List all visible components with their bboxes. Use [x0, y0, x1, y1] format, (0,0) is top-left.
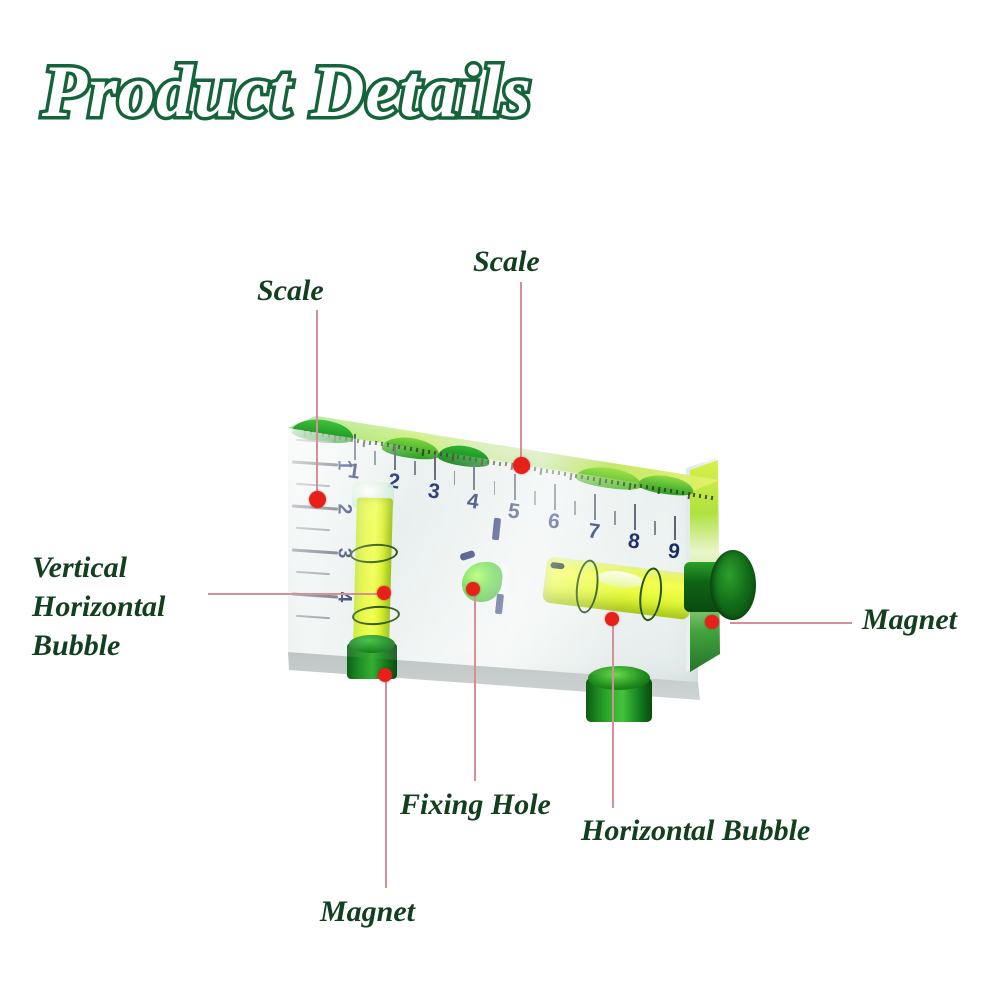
- marker-dot-magnet-right: [705, 615, 719, 629]
- right-magnet-face: [710, 550, 756, 620]
- callout-label-magnet-bottom: Magnet: [320, 892, 415, 931]
- callout-label-scale-left: Scale: [257, 271, 324, 310]
- callout-label-scale-top: Scale: [473, 242, 540, 281]
- leader-line-vertical-bubble: [208, 593, 382, 595]
- leader-line-scale-top: [520, 282, 522, 462]
- marker-dot-scale-top: [513, 457, 530, 474]
- callout-line: Vertical: [32, 548, 252, 587]
- top-bevel-tick: [711, 496, 714, 500]
- marker-dot-scale-left: [309, 491, 326, 508]
- top-bevel-tick: [699, 494, 702, 498]
- callout-label-magnet-right: Magnet: [862, 600, 957, 639]
- marker-dot-magnet-bottom: [378, 668, 392, 682]
- leader-line-magnet-bottom: [385, 682, 387, 888]
- spirit-level-illustration: 123456789 1234: [286, 398, 726, 768]
- leader-line-scale-left: [316, 310, 318, 495]
- callout-label-horizontal-bubble: Horizontal Bubble: [581, 811, 810, 850]
- callout-line: Bubble: [32, 626, 252, 665]
- marker-dot-vertical-bubble: [377, 586, 391, 600]
- callout-label-fixing-hole: Fixing Hole: [400, 785, 551, 824]
- callout-label-vertical-bubble: Vertical Horizontal Bubble: [32, 548, 252, 665]
- leader-line-fixing-hole: [474, 595, 476, 781]
- leader-line-magnet-right: [730, 622, 852, 624]
- top-bevel-tick: [705, 495, 708, 499]
- marker-dot-horizontal-bubble: [605, 612, 619, 626]
- product-details-diagram: Product Details 123456789 1234: [0, 0, 1000, 1000]
- leader-line-horizontal-bubble: [612, 620, 614, 808]
- page-title: Product Details: [42, 55, 532, 129]
- marker-dot-fixing-hole: [466, 582, 480, 596]
